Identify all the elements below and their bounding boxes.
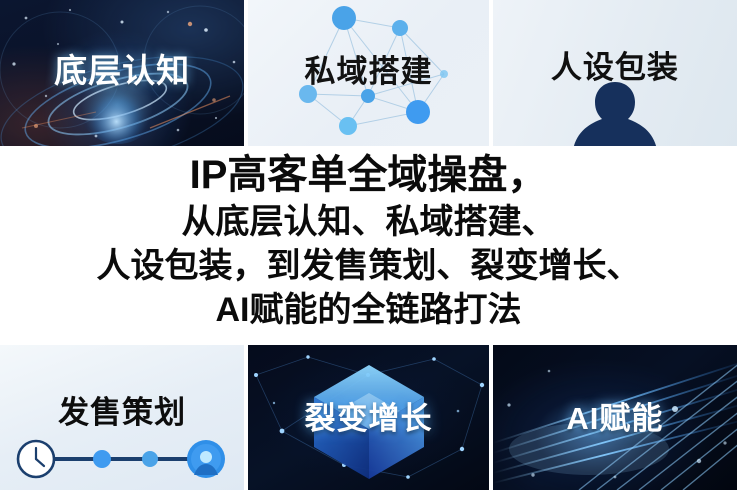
tile-label: 底层认知 xyxy=(0,44,244,92)
tile-label: AI赋能 xyxy=(493,393,737,438)
tile-label: 裂变增长 xyxy=(248,393,488,438)
person-silhouette-icon xyxy=(555,78,675,146)
bottom-tile-row: 发售策划 xyxy=(0,345,737,490)
tile-siyu-dajian[interactable]: 私域搭建 xyxy=(248,0,488,146)
tile-label: 人设包装 xyxy=(493,42,737,87)
headline-block: IP高客单全域操盘， 从底层认知、私域搭建、 人设包装，到发售策划、裂变增长、 … xyxy=(0,146,737,345)
tile-fashou-cehua[interactable]: 发售策划 xyxy=(0,345,244,490)
tile-ai-funeng[interactable]: AI赋能 xyxy=(493,345,737,490)
top-tile-row: 底层认知 xyxy=(0,0,737,146)
headline-line-1: IP高客单全域操盘， xyxy=(190,150,548,200)
tile-renshe-baozhuang[interactable]: 人设包装 xyxy=(493,0,737,146)
tile-label: 发售策划 xyxy=(0,387,244,432)
headline-line-4: AI赋能的全链路打法 xyxy=(216,288,522,332)
poster-canvas: 底层认知 xyxy=(0,0,737,490)
timeline-icon xyxy=(14,437,232,481)
tile-label: 私域搭建 xyxy=(248,46,488,91)
headline-line-2: 从底层认知、私域搭建、 xyxy=(182,200,556,244)
headline-line-3: 人设包装，到发售策划、裂变增长、 xyxy=(97,244,641,288)
tile-liebian-zengzhang[interactable]: 裂变增长 xyxy=(248,345,488,490)
tile-dibiao-renzhi[interactable]: 底层认知 xyxy=(0,0,244,146)
